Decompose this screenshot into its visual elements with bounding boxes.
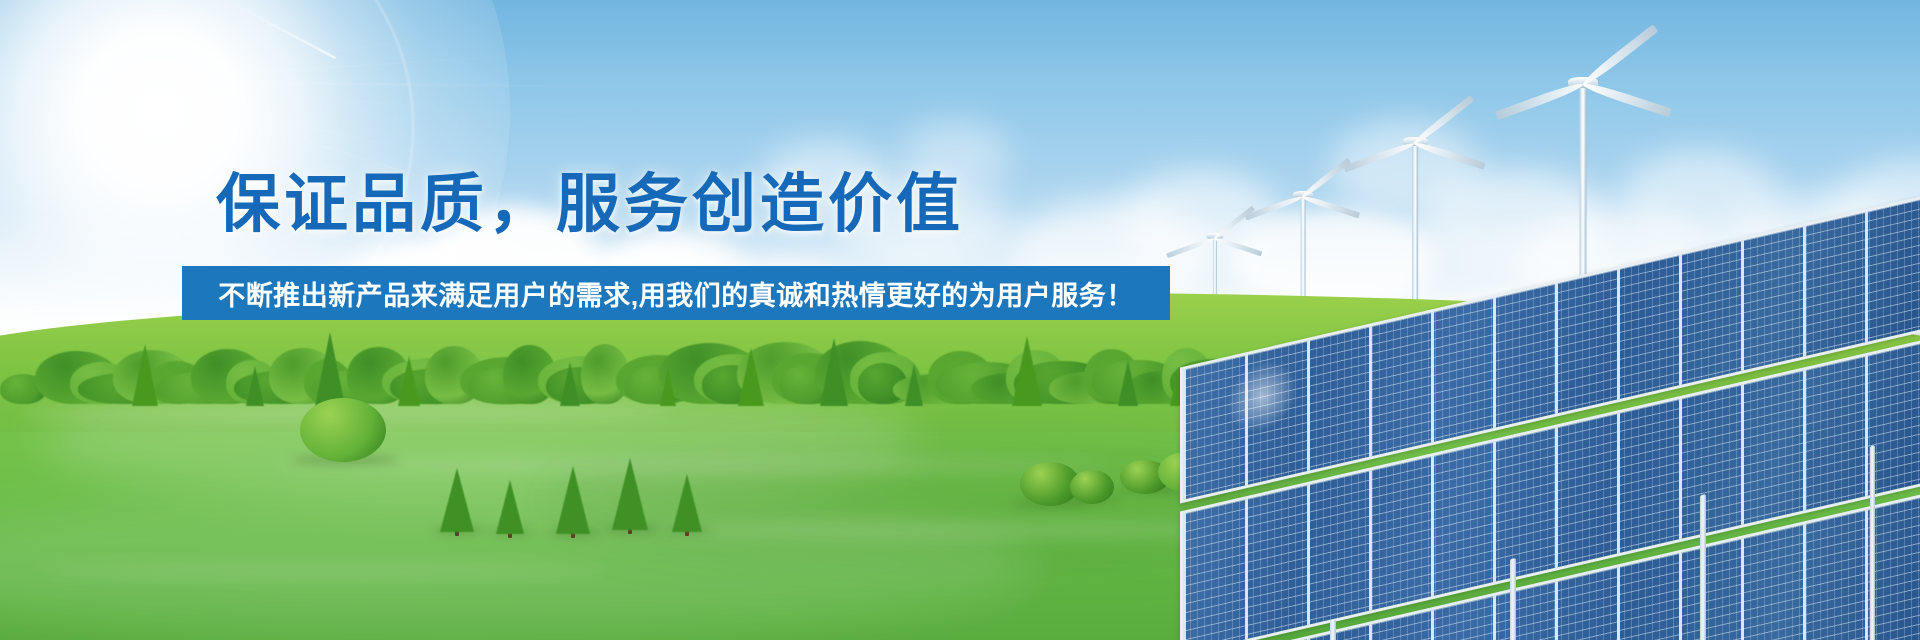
sun-ray xyxy=(115,52,554,81)
turbine-blade xyxy=(1245,194,1303,220)
page-title: 保证品质，服务创造价值 xyxy=(0,168,1180,242)
turbine-nacelle xyxy=(1403,137,1428,146)
conifer-tree xyxy=(315,332,345,406)
turbine-nacelle xyxy=(1206,233,1223,239)
conifer-tree xyxy=(905,364,923,406)
solar-support-leg xyxy=(1510,558,1516,640)
airplane-contrail-icon xyxy=(231,2,336,59)
turbine-blade xyxy=(1495,80,1585,120)
sun-ray xyxy=(115,80,372,122)
conifer-tree xyxy=(738,348,764,406)
conifer-tree xyxy=(132,344,158,406)
turbine-blade xyxy=(1300,158,1351,200)
turbine-blade xyxy=(1413,140,1486,170)
conifer-tree xyxy=(1118,360,1138,406)
turbine-blade xyxy=(1580,24,1658,88)
solar-panel-array xyxy=(1180,180,1920,640)
turbine-blade xyxy=(1344,140,1416,172)
solar-support-leg xyxy=(1870,445,1875,640)
lens-flare-dot xyxy=(186,86,193,93)
hero-banner: 保证品质，服务创造价值 不断推出新产品来满足用户的需求,用我们的真诚和热情更好的… xyxy=(0,0,1920,640)
sun-ray xyxy=(115,32,462,81)
conifer-tree xyxy=(1012,336,1042,406)
turbine-blade xyxy=(1213,236,1262,256)
sun-ray xyxy=(115,26,370,83)
conifer-tree xyxy=(246,366,264,406)
lens-flare-dot xyxy=(152,52,163,63)
subtitle-text: 不断推出新产品来满足用户的需求,用我们的真诚和热情更好的为用户服务！ xyxy=(218,274,1134,313)
solar-support-leg xyxy=(1700,494,1706,640)
sun-ray xyxy=(114,80,455,163)
solar-support-leg xyxy=(1330,619,1336,640)
turbine-nacelle xyxy=(1568,77,1598,88)
turbine-nacelle xyxy=(1293,191,1313,198)
conifer-tree xyxy=(398,356,420,406)
conifer-tree xyxy=(820,338,848,406)
conifer-tree xyxy=(660,368,676,406)
subtitle-banner-bar: 不断推出新产品来满足用户的需求,用我们的真诚和热情更好的为用户服务！ xyxy=(182,266,1170,320)
cloud xyxy=(1330,120,1480,215)
conifer-tree xyxy=(560,362,580,406)
sun-ray xyxy=(115,80,733,133)
turbine-blade xyxy=(1212,206,1255,241)
sun-ray xyxy=(115,80,645,89)
turbine-blade xyxy=(1301,194,1360,218)
turbine-blade xyxy=(1412,95,1475,146)
turbine-blade xyxy=(1582,80,1672,117)
